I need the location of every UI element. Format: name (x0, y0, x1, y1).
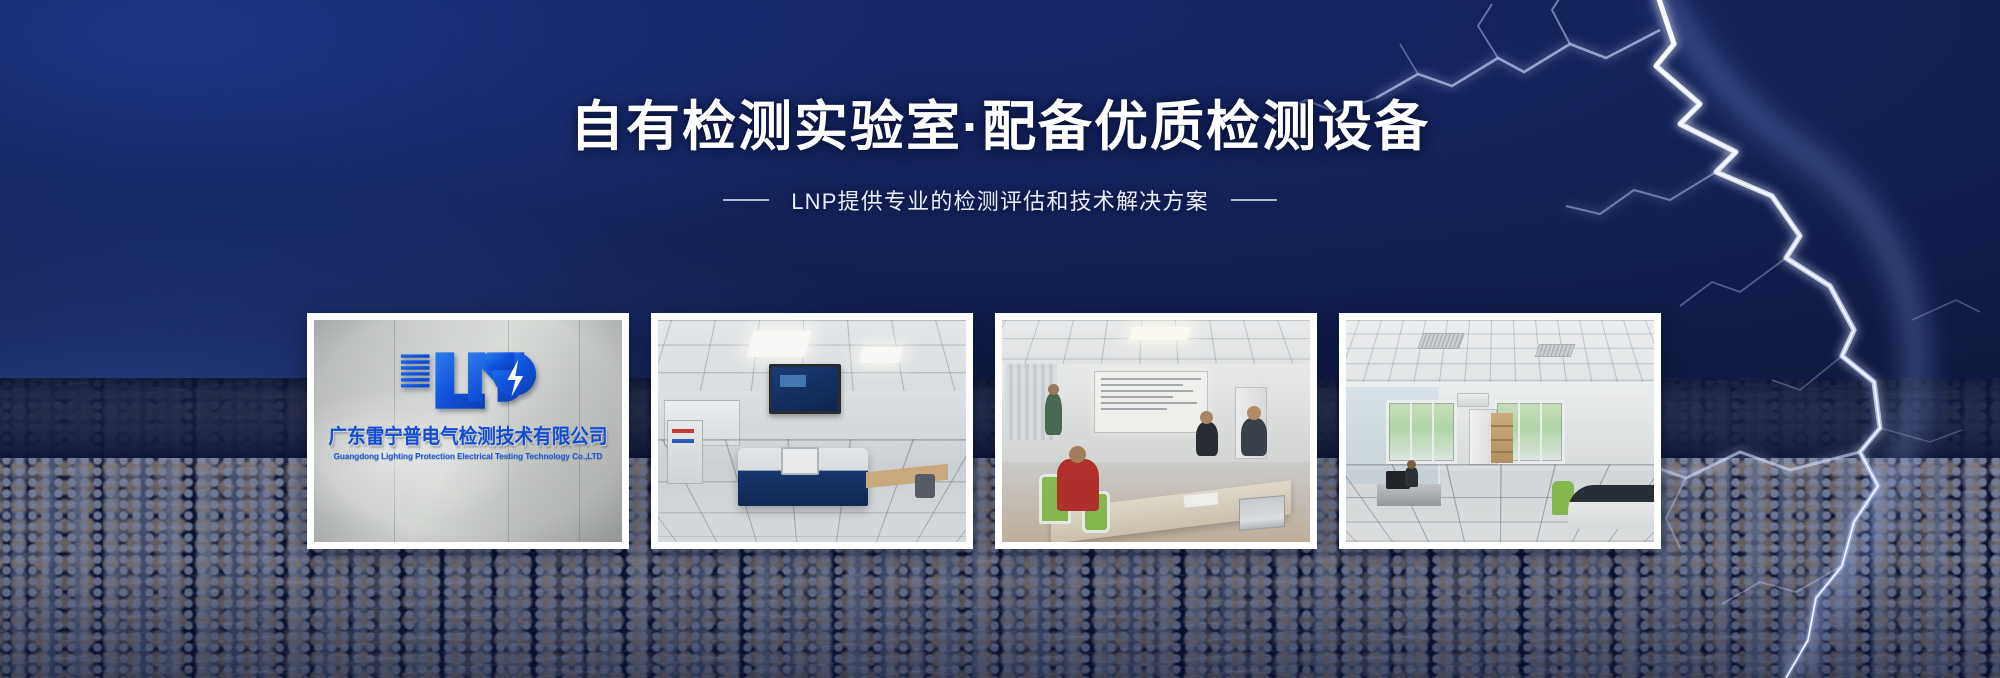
air-vent (1417, 333, 1465, 349)
air-vent (1535, 344, 1576, 357)
person-at-desk (1405, 467, 1418, 487)
test-equipment-rack (667, 420, 703, 484)
page-subtitle: LNP提供专业的检测评估和技术解决方案 (791, 184, 1209, 216)
subtitle-row: LNP提供专业的检测评估和技术解决方案 (0, 184, 2000, 216)
person-seated (1196, 422, 1218, 456)
gallery-card-testing-laboratory[interactable] (651, 313, 973, 549)
gallery-card-meeting-room[interactable] (995, 313, 1317, 549)
console-monitor (781, 447, 819, 475)
office-window (1386, 400, 1457, 464)
wall-mounted-monitor (769, 364, 841, 414)
photo-company-logo-wall: 广东雷宁普电气检测技术有限公司 Guangdong Lighting Prote… (314, 320, 622, 542)
subtitle-rule-right (1231, 199, 1277, 201)
person-presenting (1045, 393, 1062, 435)
ceiling-light (747, 331, 812, 357)
gallery-card-office-workspace[interactable] (1339, 313, 1661, 549)
photo-vignette (314, 320, 622, 542)
hero-banner: 自有检测实验室·配备优质检测设备 LNP提供专业的检测评估和技术解决方案 (0, 0, 2000, 678)
reception-counter (1568, 485, 1654, 529)
facility-photo-gallery: 广东雷宁普电气检测技术有限公司 Guangdong Lighting Prote… (307, 313, 1661, 549)
photo-meeting-room (1002, 320, 1310, 542)
photo-testing-laboratory (658, 320, 966, 542)
ceiling-light (860, 347, 903, 363)
laptop-computer (1239, 495, 1285, 531)
person-seated (1241, 418, 1267, 456)
gallery-card-company-logo-wall[interactable]: 广东雷宁普电气检测技术有限公司 Guangdong Lighting Prote… (307, 313, 629, 549)
ceiling-light (1129, 327, 1191, 340)
wooden-shelf (1491, 413, 1513, 463)
photo-office-workspace (1346, 320, 1654, 542)
air-conditioner (1457, 393, 1489, 407)
office-chair (915, 474, 935, 498)
person-in-red-jacket (1057, 459, 1099, 511)
subtitle-rule-left (723, 199, 769, 201)
projection-screen (1094, 371, 1208, 433)
hero-text-block: 自有检测实验室·配备优质检测设备 LNP提供专业的检测评估和技术解决方案 (0, 96, 2000, 216)
page-title: 自有检测实验室·配备优质检测设备 (0, 96, 2000, 160)
